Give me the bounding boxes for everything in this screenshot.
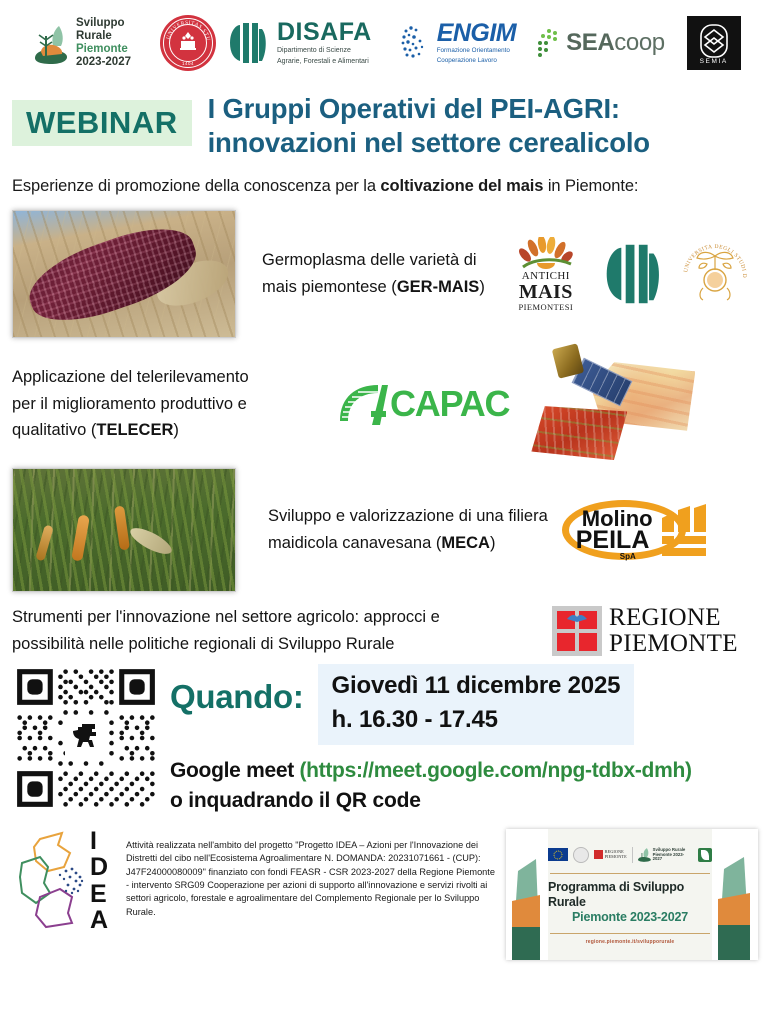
semia-seed-icon — [697, 23, 731, 61]
regione-piemonte-shield-icon — [552, 606, 602, 656]
satellite-remote-sensing-image — [531, 344, 699, 464]
seacoop-title-b: coop — [614, 29, 664, 56]
ger-mais-line-1: Germoplasma delle varietà di — [262, 247, 485, 274]
when-date: Giovedì 11 dicembre 2025 — [332, 669, 621, 703]
psr-regione-piemonte-logo: REGIONE PIEMONTE — [594, 850, 627, 859]
ger-mais-text-3: ) — [479, 278, 485, 296]
row-text-telecer: Applicazione del telerilevamento per il … — [12, 364, 312, 444]
idea-shapes-icon — [14, 827, 88, 935]
idea-letter-a: A — [90, 907, 109, 934]
psr-left-artwork — [506, 829, 548, 960]
content-row-ger-mais: Germoplasma delle varietà di mais piemon… — [0, 210, 768, 338]
telecer-text-4: ) — [173, 421, 179, 439]
shield-bird-icon — [566, 613, 588, 622]
when-date-box: Giovedì 11 dicembre 2025 h. 16.30 - 17.4… — [318, 664, 635, 745]
psr-sr-line-2: Piemonte 2023-2027 — [653, 853, 694, 862]
politiche-line-2: possibilità nelle politiche regionali di… — [12, 631, 552, 658]
disafa-wordmark: DISAFA Dipartimento di Scienze Agrarie, … — [277, 20, 372, 67]
maize-field-photo — [12, 468, 236, 592]
when-time: h. 16.30 - 17.45 — [332, 703, 621, 737]
content-row-politiche-regionali: Strumenti per l'innovazione nel settore … — [0, 604, 768, 657]
when-details: Quando: Giovedì 11 dicembre 2025 h. 16.3… — [160, 664, 756, 813]
peila-wheat-icon — [658, 502, 710, 558]
acapac-a-icon — [338, 381, 396, 427]
sviluppo-rurale-icon — [29, 20, 71, 66]
psr-regione-square — [594, 850, 603, 859]
seal-year: 1404 — [160, 61, 216, 66]
sr-line-1: Sviluppo — [76, 17, 131, 30]
torino-crest-icon — [175, 30, 201, 56]
telecer-text-3: qualitativo ( — [12, 421, 96, 439]
antichi-mais-sun-icon — [515, 237, 577, 270]
idea-wordmark: I D E A — [90, 828, 109, 934]
idea-letter-d: D — [90, 854, 109, 881]
meca-text-3: ) — [490, 534, 496, 552]
subtitle-bold: coltivazione del mais — [380, 177, 543, 195]
regione-line-2: PIEMONTE — [609, 631, 738, 657]
row-text-meca: Sviluppo e valorizzazione di una filiera… — [268, 503, 548, 556]
logo-seacoop: SEAcoop — [536, 28, 665, 58]
psr-rule-top — [550, 873, 710, 874]
psr-regione-text: REGIONE PIEMONTE — [605, 850, 627, 859]
psr-rule-bottom — [550, 933, 710, 934]
webinar-badge: WEBINAR — [12, 100, 192, 146]
logo-antichi-mais-piemontesi: ANTICHI MAIS PIEMONTESI — [507, 237, 585, 312]
content-row-meca: Sviluppo e valorizzazione di una filiera… — [0, 468, 768, 592]
logo-sviluppo-rurale-piemonte: Sviluppo Rurale Piemonte 2023-2027 — [14, 17, 146, 69]
logo-universita-di-torino: UNIVERSITAS STUDII TAURINENSIS 1404 — [160, 15, 216, 71]
ger-mais-acronym: GER-MAIS — [397, 278, 480, 296]
idea-letter-i: I — [90, 828, 109, 855]
subtitle-part-2: in Piemonte: — [543, 177, 638, 195]
logo-molino-peila: Molino PEILA SpA — [560, 492, 710, 568]
logo-semia: SEMIA — [687, 16, 741, 70]
sviluppo-rurale-wordmark: Sviluppo Rurale Piemonte 2023-2027 — [76, 17, 131, 69]
sr-line-4: 2023-2027 — [76, 56, 131, 69]
disafa-subtitle-1: Dipartimento di Scienze — [277, 47, 372, 56]
engim-subtitle-2: Cooperazione Lavoro — [437, 57, 516, 65]
disafa-subtitle-2: Agrarie, Forestali e Alimentari — [277, 58, 372, 67]
psr-sviluppo-rurale-logo: Sviluppo Rurale Piemonte 2023-2027 — [638, 847, 693, 862]
antichi-mais-line-1: ANTICHI — [522, 271, 570, 282]
semia-label: SEMIA — [687, 58, 741, 65]
corn-cob-photo — [12, 210, 236, 338]
title-block: WEBINAR I Gruppi Operativi del PEI-AGRI:… — [0, 82, 768, 159]
when-label: Quando: — [170, 664, 304, 716]
repubblica-italiana-icon — [573, 847, 589, 863]
seacoop-dots-icon — [536, 28, 562, 58]
psr-institution-logos: REGIONE PIEMONTE Sviluppo Rurale Piemont… — [548, 844, 712, 866]
footer-disclaimer: Attività realizzata nell'ambito del prog… — [126, 827, 506, 920]
psr-right-artwork — [712, 829, 758, 960]
seacoop-wordmark: SEAcoop — [566, 29, 665, 57]
regione-piemonte-wordmark: REGIONE PIEMONTE — [609, 605, 738, 656]
psr-sr-icon — [638, 847, 651, 862]
ger-mais-text-2: mais piemontese ( — [262, 278, 397, 296]
psr-sr-text: Sviluppo Rurale Piemonte 2023-2027 — [653, 848, 694, 862]
when-section: Quando: Giovedì 11 dicembre 2025 h. 16.3… — [0, 658, 768, 813]
logo-acapac: CAPAC — [338, 381, 509, 427]
footer: I D E A Attività realizzata nell'ambito … — [0, 813, 768, 960]
idea-letter-e: E — [90, 881, 109, 908]
shield-quadrant-3 — [557, 633, 575, 651]
meca-line-1: Sviluppo e valorizzazione di una filiera — [268, 503, 548, 530]
disafa-title: DISAFA — [277, 20, 372, 45]
psr-divider — [632, 847, 633, 863]
antichi-mais-line-2: MAIS — [519, 282, 573, 302]
logo-disafa: DISAFA Dipartimento di Scienze Agrarie, … — [226, 17, 372, 69]
subtitle-part-1: Esperienze di promozione della conoscenz… — [12, 177, 380, 195]
seacoop-title-a: SEA — [566, 29, 614, 56]
telecer-line-1: Applicazione del telerilevamento — [12, 364, 312, 391]
engim-dots-icon — [400, 23, 434, 63]
qr-center-dino-icon — [65, 718, 107, 758]
psr-banner-inner: REGIONE PIEMONTE Sviluppo Rurale Piemont… — [548, 829, 712, 960]
meca-acronym: MECA — [441, 534, 490, 552]
header-logo-strip: Sviluppo Rurale Piemonte 2023-2027 UNIVE… — [0, 0, 768, 82]
meet-link[interactable]: (https://meet.google.com/npg-tdbx-dmh) — [299, 759, 691, 782]
content-row-telecer: Applicazione del telerilevamento per il … — [0, 344, 768, 464]
sr-line-3: Piemonte — [76, 43, 131, 56]
when-headline-row: Quando: Giovedì 11 dicembre 2025 h. 16.3… — [170, 664, 756, 745]
psr-title-line-2: Piemonte 2023-2027 — [572, 910, 688, 926]
psr-leaf-icon — [698, 848, 712, 862]
acapac-label: CAPAC — [390, 383, 509, 425]
title-line-2: innovazioni nel settore cerealicolo — [208, 126, 650, 160]
psr-banner: REGIONE PIEMONTE Sviluppo Rurale Piemont… — [506, 829, 758, 960]
meet-line[interactable]: Google meet (https://meet.google.com/npg… — [170, 759, 756, 783]
sr-line-2: Rurale — [76, 30, 131, 43]
row-text-politiche: Strumenti per l'innovazione nel settore … — [12, 604, 552, 657]
psr-title-line-1: Programma di Sviluppo Rurale — [548, 880, 712, 910]
subtitle-line: Esperienze di promozione della conoscenz… — [0, 159, 768, 196]
logo-regione-piemonte: REGIONE PIEMONTE — [552, 605, 738, 656]
politiche-line-1: Strumenti per l'innovazione nel settore … — [12, 604, 552, 631]
telecer-line-2: per il miglioramento produttivo e — [12, 391, 312, 418]
regione-line-1: REGIONE — [609, 605, 738, 631]
shield-quadrant-4 — [579, 633, 597, 651]
engim-wordmark: ENGIM Formazione Orientamento Cooperazio… — [437, 21, 516, 64]
qr-instruction: o inquadrando il QR code — [170, 789, 756, 813]
antichi-mais-line-3: PIEMONTESI — [519, 302, 574, 312]
disafa-tree-icon — [226, 17, 270, 69]
raster-map-red — [531, 406, 627, 460]
logo-idea: I D E A — [14, 827, 126, 935]
title-line-1: I Gruppi Operativi del PEI-AGRI: — [208, 92, 650, 126]
psr-regione-line-2: PIEMONTE — [605, 855, 627, 860]
psr-url: regione.piemonte.it/svilupporurale — [586, 939, 675, 945]
logo-universita-scienze-gastronomiche: UNIVERSITA DEGLI STUDI DI SCIENZE GASTRO… — [677, 236, 753, 312]
peila-line-3: SpA — [620, 552, 636, 561]
logo-engim: ENGIM Formazione Orientamento Cooperazio… — [400, 21, 516, 64]
unisg-seal-icon: UNIVERSITA DEGLI STUDI DI SCIENZE GASTRO… — [677, 236, 753, 312]
peila-line-2: PEILA — [576, 528, 650, 553]
eu-flag-icon — [548, 848, 568, 861]
satellite-body — [552, 343, 584, 378]
logo-disafa-tree-secondary — [595, 236, 671, 312]
telecer-acronym: TELECER — [96, 421, 173, 439]
telecer-line-3: qualitativo (TELECER) — [12, 417, 312, 444]
page-title: I Gruppi Operativi del PEI-AGRI: innovaz… — [208, 92, 650, 159]
ger-mais-line-2: mais piemontese (GER-MAIS) — [262, 274, 485, 301]
qr-code[interactable] — [12, 664, 160, 812]
engim-title: ENGIM — [437, 21, 516, 46]
row-text-ger-mais: Germoplasma delle varietà di mais piemon… — [262, 247, 485, 300]
meca-text-2: maidicola canavesana ( — [268, 534, 441, 552]
engim-subtitle-1: Formazione Orientamento — [437, 47, 516, 55]
meet-label: Google meet — [170, 759, 299, 782]
meca-line-2: maidicola canavesana (MECA) — [268, 530, 548, 557]
